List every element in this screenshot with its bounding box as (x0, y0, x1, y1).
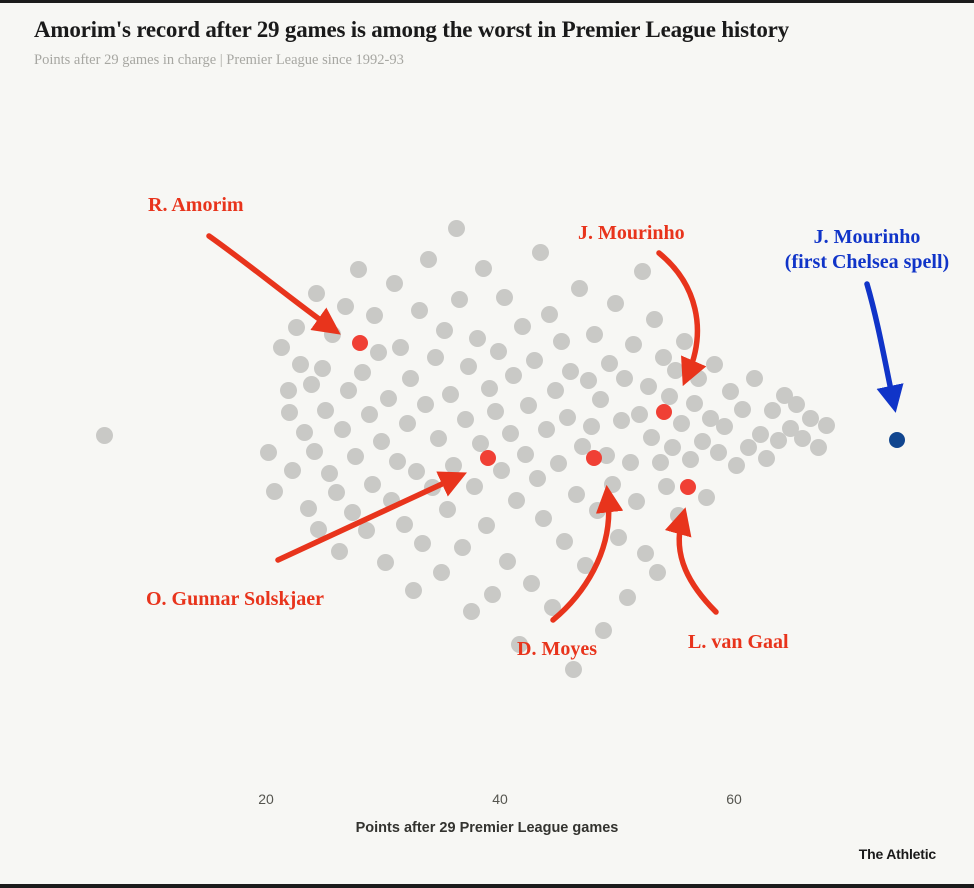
manager-dot (396, 516, 413, 533)
manager-dot (664, 439, 681, 456)
highlighted-manager-dot (656, 404, 672, 420)
scatter-plot-area (0, 0, 974, 888)
manager-dot (427, 349, 444, 366)
annotation-label-mourinho-chelsea-l2: (first Chelsea spell) (760, 250, 974, 275)
manager-dot (331, 543, 348, 560)
manager-dot (266, 483, 283, 500)
manager-dot (358, 522, 375, 539)
x-tick-40: 40 (470, 791, 530, 807)
manager-dot (722, 383, 739, 400)
manager-dot (526, 352, 543, 369)
manager-dot (366, 307, 383, 324)
manager-dot (622, 454, 639, 471)
manager-dot (350, 261, 367, 278)
manager-dot (281, 404, 298, 421)
manager-dot (324, 326, 341, 343)
manager-dot (300, 500, 317, 517)
manager-dot (658, 478, 675, 495)
manager-dot (306, 443, 323, 460)
manager-dot (469, 330, 486, 347)
manager-dot (673, 415, 690, 432)
manager-dot (752, 426, 769, 443)
manager-dot (568, 486, 585, 503)
manager-dot (439, 501, 456, 518)
annotation-label-vangaal: L. van Gaal (688, 630, 789, 655)
manager-dot (373, 433, 390, 450)
highlighted-manager-dot (889, 432, 905, 448)
manager-dot (442, 386, 459, 403)
manager-dot (788, 396, 805, 413)
manager-dot (607, 295, 624, 312)
manager-dot (734, 401, 751, 418)
manager-dot (364, 476, 381, 493)
manager-dot (308, 285, 325, 302)
manager-dot (514, 318, 531, 335)
manager-dot (340, 382, 357, 399)
x-tick-60: 60 (704, 791, 764, 807)
manager-dot (556, 533, 573, 550)
annotation-label-moyes: D. Moyes (517, 637, 597, 662)
manager-dot (652, 454, 669, 471)
manager-dot (389, 453, 406, 470)
manager-dot (571, 280, 588, 297)
manager-dot (445, 457, 462, 474)
manager-dot (334, 421, 351, 438)
manager-dot (484, 586, 501, 603)
manager-dot (535, 510, 552, 527)
manager-dot (337, 298, 354, 315)
manager-dot (586, 326, 603, 343)
annotation-label-solskjaer: O. Gunnar Solskjaer (146, 587, 324, 612)
manager-dot (451, 291, 468, 308)
manager-dot (553, 333, 570, 350)
highlighted-manager-dot (480, 450, 496, 466)
manager-dot (505, 367, 522, 384)
manager-dot (595, 622, 612, 639)
manager-dot (472, 435, 489, 452)
manager-dot (481, 380, 498, 397)
manager-dot (538, 421, 555, 438)
manager-dot (417, 396, 434, 413)
manager-dot (728, 457, 745, 474)
manager-dot (550, 455, 567, 472)
manager-dot (670, 507, 687, 524)
manager-dot (818, 417, 835, 434)
manager-dot (698, 489, 715, 506)
manager-dot (380, 390, 397, 407)
manager-dot (686, 395, 703, 412)
manager-dot (746, 370, 763, 387)
manager-dot (523, 575, 540, 592)
manager-dot (616, 370, 633, 387)
manager-dot (361, 406, 378, 423)
manager-dot (637, 545, 654, 562)
manager-dot (544, 599, 561, 616)
manager-dot (577, 557, 594, 574)
manager-dot (490, 343, 507, 360)
manager-dot (448, 220, 465, 237)
manager-dot (802, 410, 819, 427)
manager-dot (631, 406, 648, 423)
manager-dot (399, 415, 416, 432)
annotation-label-mourinho-utd: J. Mourinho (578, 221, 685, 246)
manager-dot (508, 492, 525, 509)
manager-dot (436, 322, 453, 339)
manager-dot (649, 564, 666, 581)
manager-dot (583, 418, 600, 435)
manager-dot (502, 425, 519, 442)
manager-dot (646, 311, 663, 328)
manager-dot (296, 424, 313, 441)
manager-dot (610, 529, 627, 546)
manager-dot (405, 582, 422, 599)
manager-dot (475, 260, 492, 277)
manager-dot (613, 412, 630, 429)
manager-dot (794, 430, 811, 447)
manager-dot (347, 448, 364, 465)
manager-dot (667, 362, 684, 379)
manager-dot (580, 372, 597, 389)
highlighted-manager-dot (586, 450, 602, 466)
manager-dot (280, 382, 297, 399)
manager-dot (288, 319, 305, 336)
source-credit: The Athletic (859, 846, 936, 862)
manager-dot (562, 363, 579, 380)
manager-dot (619, 589, 636, 606)
manager-dot (292, 356, 309, 373)
manager-dot (377, 554, 394, 571)
manager-dot (559, 409, 576, 426)
manager-dot (317, 402, 334, 419)
highlighted-manager-dot (680, 479, 696, 495)
manager-dot (273, 339, 290, 356)
manager-dot (740, 439, 757, 456)
manager-dot (354, 364, 371, 381)
manager-dot (478, 517, 495, 534)
manager-dot (520, 397, 537, 414)
manager-dot (643, 429, 660, 446)
manager-dot (496, 289, 513, 306)
manager-dot (565, 661, 582, 678)
manager-dot (625, 336, 642, 353)
manager-dot (706, 356, 723, 373)
manager-dot (493, 462, 510, 479)
manager-dot (640, 378, 657, 395)
x-tick-20: 20 (236, 791, 296, 807)
manager-dot (676, 333, 693, 350)
manager-dot (547, 382, 564, 399)
manager-dot (655, 349, 672, 366)
manager-dot (386, 275, 403, 292)
manager-dot (517, 446, 534, 463)
manager-dot (457, 411, 474, 428)
manager-dot (328, 484, 345, 501)
manager-dot (408, 463, 425, 480)
manager-dot (260, 444, 277, 461)
manager-dot (460, 358, 477, 375)
manager-dot (433, 564, 450, 581)
manager-dot (392, 339, 409, 356)
manager-dot (303, 376, 320, 393)
x-axis-label: Points after 29 Premier League games (0, 820, 974, 836)
manager-dot (541, 306, 558, 323)
manager-dot (694, 433, 711, 450)
manager-dot (96, 427, 113, 444)
manager-dot (592, 391, 609, 408)
chart-page: Amorim's record after 29 games is among … (0, 0, 974, 888)
manager-dot (370, 344, 387, 361)
manager-dot (810, 439, 827, 456)
manager-dot (758, 450, 775, 467)
manager-dot (634, 263, 651, 280)
manager-dot (420, 251, 437, 268)
manager-dot (310, 521, 327, 538)
manager-dot (690, 370, 707, 387)
manager-dot (314, 360, 331, 377)
manager-dot (284, 462, 301, 479)
manager-dot (682, 451, 699, 468)
manager-dot (604, 476, 621, 493)
manager-dot (430, 430, 447, 447)
manager-dot (589, 502, 606, 519)
manager-dot (601, 355, 618, 372)
manager-dot (454, 539, 471, 556)
manager-dot (466, 478, 483, 495)
manager-dot (764, 402, 781, 419)
annotation-label-mourinho-chelsea-l1: J. Mourinho (760, 225, 974, 250)
manager-dot (402, 370, 419, 387)
manager-dot (463, 603, 480, 620)
manager-dot (529, 470, 546, 487)
manager-dot (383, 492, 400, 509)
manager-dot (661, 388, 678, 405)
manager-dot (424, 479, 441, 496)
annotation-label-amorim: R. Amorim (148, 193, 244, 218)
manager-dot (532, 244, 549, 261)
manager-dot (411, 302, 428, 319)
manager-dot (716, 418, 733, 435)
manager-dot (710, 444, 727, 461)
manager-dot (628, 493, 645, 510)
manager-dot (344, 504, 361, 521)
manager-dot (499, 553, 516, 570)
manager-dot (487, 403, 504, 420)
highlighted-manager-dot (352, 335, 368, 351)
manager-dot (414, 535, 431, 552)
manager-dot (321, 465, 338, 482)
